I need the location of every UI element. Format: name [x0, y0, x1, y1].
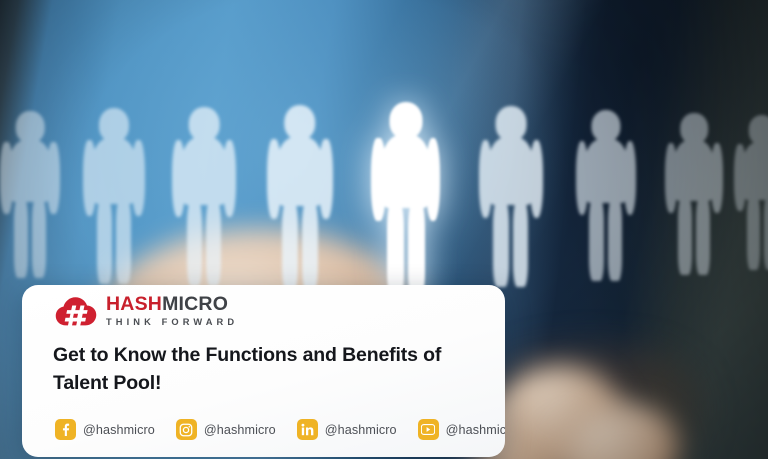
logo-tagline: THINK FORWARD — [106, 318, 238, 327]
logo-word-hash: HASH — [106, 293, 162, 315]
social-handle-facebook: @hashmicro — [83, 423, 155, 437]
social-link-youtube[interactable]: @hashmicro — [418, 419, 505, 440]
facebook-icon[interactable] — [55, 419, 76, 440]
headline-text: Get to Know the Functions and Benefits o… — [53, 342, 483, 397]
social-links-row: @hashmicro @hashmicro — [55, 419, 505, 440]
info-card: HASHMICRO THINK FORWARD Get to Know the … — [22, 285, 505, 457]
logo-wordmark: HASHMICRO THINK FORWARD — [106, 295, 238, 328]
social-handle-instagram: @hashmicro — [204, 423, 276, 437]
brand-logo: HASHMICRO THINK FORWARD — [55, 294, 238, 328]
social-handle-linkedin: @hashmicro — [325, 423, 397, 437]
social-link-linkedin[interactable]: @hashmicro — [297, 419, 397, 440]
social-handle-youtube: @hashmicro — [446, 423, 505, 437]
social-link-instagram[interactable]: @hashmicro — [176, 419, 276, 440]
youtube-icon[interactable] — [418, 419, 439, 440]
instagram-icon[interactable] — [176, 419, 197, 440]
banner-image: HASHMICRO THINK FORWARD Get to Know the … — [0, 0, 768, 459]
logo-word-micro: MICRO — [162, 293, 228, 315]
cloud-hash-logo-icon — [55, 294, 97, 328]
logo-word: HASHMICRO — [106, 295, 238, 315]
linkedin-icon[interactable] — [297, 419, 318, 440]
social-link-facebook[interactable]: @hashmicro — [55, 419, 155, 440]
